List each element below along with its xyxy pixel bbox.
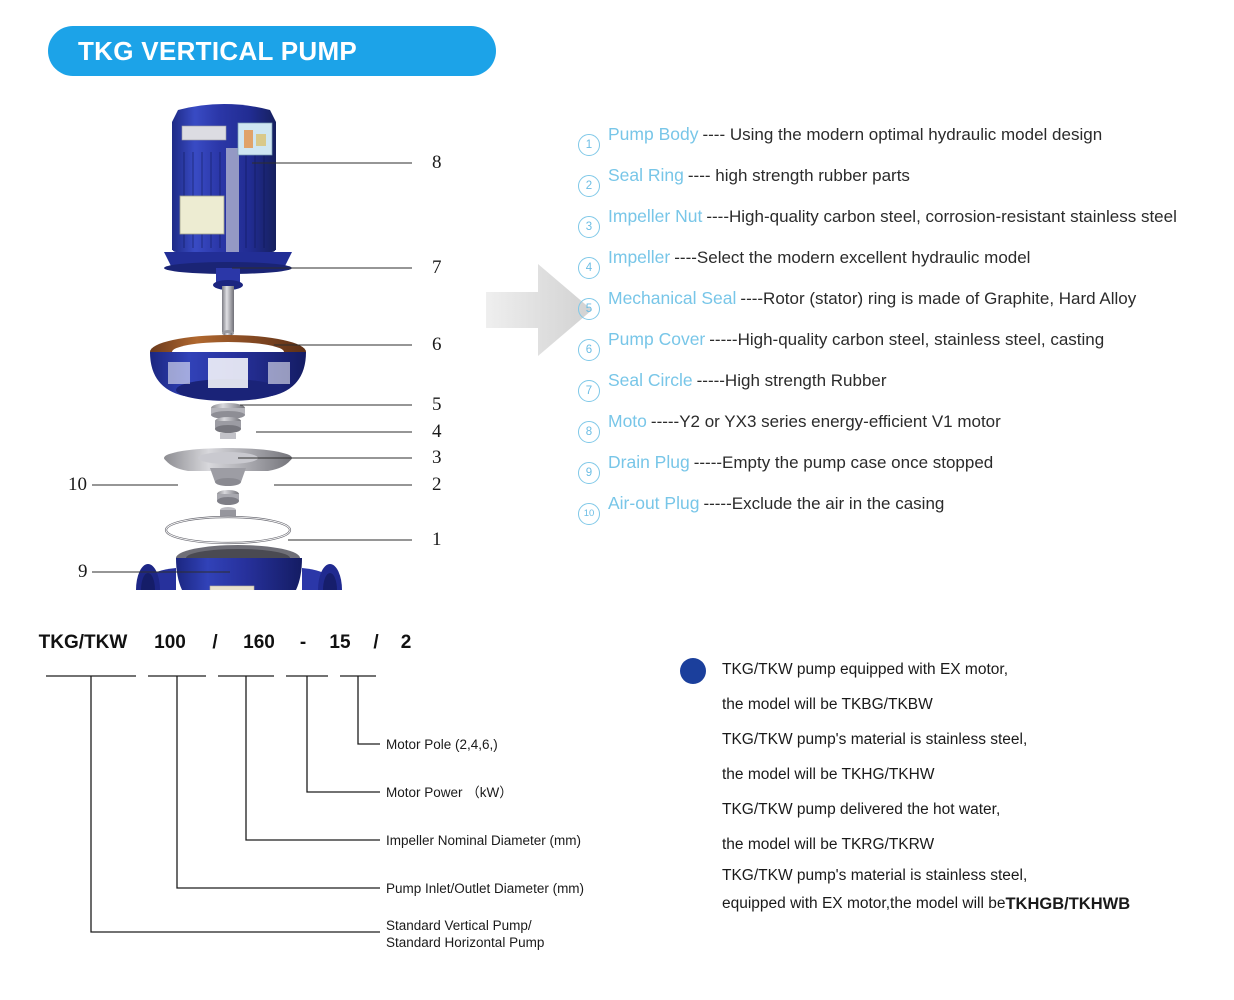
legend-item-pump-cover: 6 Pump Cover -----High-quality carbon st…: [578, 329, 1228, 370]
legend-name-8: Moto: [608, 411, 647, 432]
legend-item-drain-plug: 9 Drain Plug -----Empty the pump case on…: [578, 452, 1228, 493]
figure-callout-8: 8: [432, 152, 442, 174]
model-code-breakdown: TKG/TKW 100 / 160 - 15 / 2 Motor: [28, 632, 628, 962]
part-pump-cover: [150, 335, 306, 401]
code-label-standard-vertical: Standard Vertical Pump/: [386, 917, 532, 934]
note-line-3: TKG/TKW pump's material is stainless ste…: [722, 722, 1200, 757]
figure-callout-3: 3: [432, 447, 442, 469]
note-line-8-model: TKHGB/TKHWB: [1005, 895, 1130, 914]
part-motor: [164, 104, 292, 274]
part-impeller-nut: [217, 490, 239, 516]
legend-desc-10: -----Exclude the air in the casing: [703, 494, 944, 514]
model-code-brackets: [28, 632, 628, 962]
legend-desc-5: ----Rotor (stator) ring is made of Graph…: [740, 289, 1136, 309]
legend-item-impeller-nut: 3 Impeller Nut ----High-quality carbon s…: [578, 206, 1228, 247]
legend-number-2: 2: [578, 175, 600, 197]
legend-number-4: 4: [578, 257, 600, 279]
legend-name-10: Air-out Plug: [608, 493, 699, 514]
legend-desc-6: -----High-quality carbon steel, stainles…: [709, 330, 1104, 350]
note-line-2: the model will be TKBG/TKBW: [722, 687, 1200, 722]
part-seal-ring: [166, 517, 290, 543]
figure-callout-6: 6: [432, 334, 442, 356]
legend-item-pump-body: 1 Pump Body ---- Using the modern optima…: [578, 124, 1228, 165]
code-label-motor-power: Motor Power （kW）: [386, 784, 513, 801]
legend-desc-9: -----Empty the pump case once stopped: [694, 453, 994, 473]
page-title: TKG VERTICAL PUMP: [48, 36, 357, 67]
legend-desc-4: ----Select the modern excellent hydrauli…: [674, 248, 1030, 268]
page-title-banner: TKG VERTICAL PUMP: [48, 26, 496, 76]
legend-name-7: Seal Circle: [608, 370, 693, 391]
legend-number-6: 6: [578, 339, 600, 361]
legend-name-2: Seal Ring: [608, 165, 684, 186]
figure-callout-2: 2: [432, 474, 442, 496]
figure-callout-4: 4: [432, 421, 442, 443]
legend-item-air-out-plug: 10 Air-out Plug -----Exclude the air in …: [578, 493, 1228, 534]
code-label-standard-horizontal: Standard Horizontal Pump: [386, 934, 544, 951]
legend-name-1: Pump Body: [608, 124, 698, 145]
part-mechanical-seal: [211, 403, 245, 439]
part-pump-body: [136, 545, 342, 590]
legend-number-8: 8: [578, 421, 600, 443]
code-label-impeller-dia: Impeller Nominal Diameter (mm): [386, 832, 581, 849]
figure-callout-7: 7: [432, 257, 442, 279]
code-label-inlet-outlet: Pump Inlet/Outlet Diameter (mm): [386, 880, 584, 897]
legend-desc-2: ---- high strength rubber parts: [688, 166, 910, 186]
figure-callout-9: 9: [78, 561, 88, 583]
parts-legend: 1 Pump Body ---- Using the modern optima…: [578, 124, 1228, 534]
legend-name-9: Drain Plug: [608, 452, 690, 473]
note-line-5: TKG/TKW pump delivered the hot water,: [722, 792, 1200, 827]
legend-item-impeller: 4 Impeller ----Select the modern excelle…: [578, 247, 1228, 288]
figure-callout-10: 10: [68, 474, 87, 496]
legend-number-7: 7: [578, 380, 600, 402]
model-variant-notes: TKG/TKW pump equipped with EX motor, the…: [680, 652, 1200, 918]
legend-item-seal-circle: 7 Seal Circle -----High strength Rubber: [578, 370, 1228, 411]
legend-name-4: Impeller: [608, 247, 670, 268]
legend-name-5: Mechanical Seal: [608, 288, 736, 309]
legend-number-10: 10: [578, 503, 600, 525]
note-line-8-prefix: equipped with EX motor,the model will be: [722, 895, 1005, 913]
legend-desc-8: -----Y2 or YX3 series energy-efficient V…: [651, 412, 1001, 432]
note-line-7: TKG/TKW pump's material is stainless ste…: [722, 862, 1200, 890]
exploded-pump-diagram: [60, 90, 480, 590]
legend-item-seal-ring: 2 Seal Ring ---- high strength rubber pa…: [578, 165, 1228, 206]
note-line-8: equipped with EX motor,the model will be…: [722, 890, 1200, 918]
figure-callout-5: 5: [432, 394, 442, 416]
legend-desc-7: -----High strength Rubber: [697, 371, 887, 391]
legend-desc-3: ----High-quality carbon steel, corrosion…: [706, 207, 1177, 227]
legend-number-1: 1: [578, 134, 600, 156]
legend-name-3: Impeller Nut: [608, 206, 702, 227]
legend-item-mechanical-seal: 5 Mechanical Seal ----Rotor (stator) rin…: [578, 288, 1228, 329]
legend-number-9: 9: [578, 462, 600, 484]
legend-number-5: 5: [578, 298, 600, 320]
legend-name-6: Pump Cover: [608, 329, 705, 350]
part-impeller: [164, 448, 292, 486]
legend-number-3: 3: [578, 216, 600, 238]
note-line-6: the model will be TKRG/TKRW: [722, 827, 1200, 862]
bullet-icon: [680, 658, 706, 684]
note-line-1: TKG/TKW pump equipped with EX motor,: [722, 652, 1200, 687]
figure-callout-1: 1: [432, 529, 442, 551]
legend-item-moto: 8 Moto -----Y2 or YX3 series energy-effi…: [578, 411, 1228, 452]
note-line-4: the model will be TKHG/TKHW: [722, 757, 1200, 792]
code-label-motor-pole: Motor Pole (2,4,6,): [386, 736, 498, 753]
legend-desc-1: ---- Using the modern optimal hydraulic …: [702, 125, 1102, 145]
